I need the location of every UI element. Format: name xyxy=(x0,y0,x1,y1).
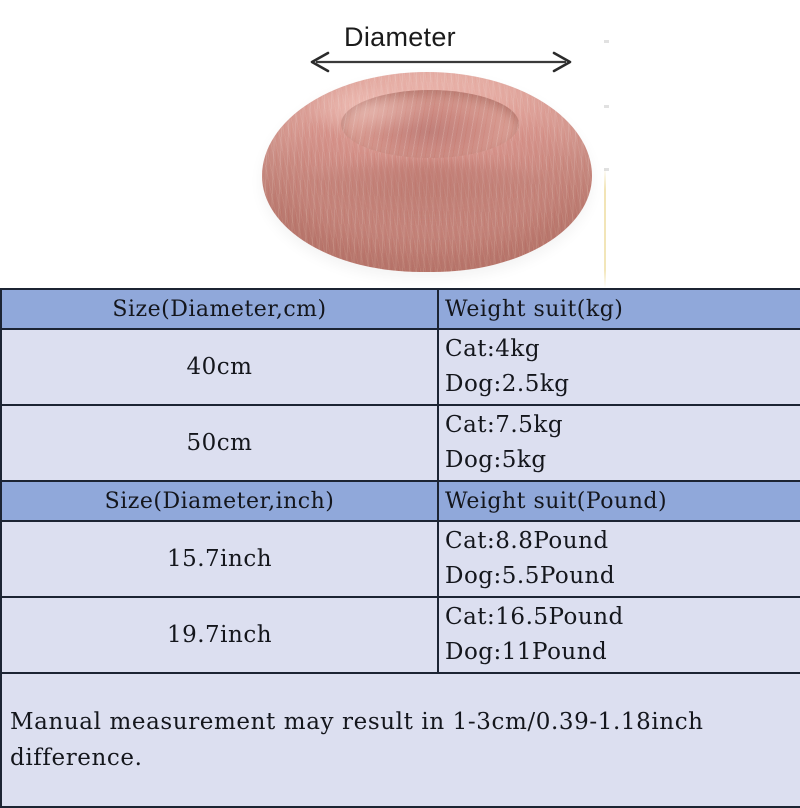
table-row: 40cm Cat:4kg Dog:2.5kg xyxy=(1,329,800,405)
size-chart-table: Size(Diameter,cm) Weight suit(kg) 40cm C… xyxy=(0,288,800,808)
table-footer-row: Manual measurement may result in 1-3cm/0… xyxy=(1,673,800,807)
size-value-50cm: 50cm xyxy=(1,405,438,481)
dog-weight: Dog:5kg xyxy=(445,443,800,478)
dog-weight: Dog:5.5Pound xyxy=(445,559,800,594)
table-header-row-inch: Size(Diameter,inch) Weight suit(Pound) xyxy=(1,481,800,521)
header-size-inch: Size(Diameter,inch) xyxy=(1,481,438,521)
header-weight-pound: Weight suit(Pound) xyxy=(438,481,800,521)
weight-cell-50cm: Cat:7.5kg Dog:5kg xyxy=(438,405,800,481)
manual-measurement-note: Manual measurement may result in 1-3cm/0… xyxy=(1,673,800,807)
header-weight-kg: Weight suit(kg) xyxy=(438,289,800,329)
cat-weight: Cat:4kg xyxy=(445,332,800,367)
cat-weight: Cat:16.5Pound xyxy=(445,600,800,635)
table-row: 50cm Cat:7.5kg Dog:5kg xyxy=(1,405,800,481)
size-value-19-7inch: 19.7inch xyxy=(1,597,438,673)
dog-weight: Dog:11Pound xyxy=(445,635,800,670)
pet-bed-highlight xyxy=(302,84,434,136)
weight-cell-15-7inch: Cat:8.8Pound Dog:5.5Pound xyxy=(438,521,800,597)
table-row: 19.7inch Cat:16.5Pound Dog:11Pound xyxy=(1,597,800,673)
size-value-40cm: 40cm xyxy=(1,329,438,405)
table-row: 15.7inch Cat:8.8Pound Dog:5.5Pound xyxy=(1,521,800,597)
weight-cell-19-7inch: Cat:16.5Pound Dog:11Pound xyxy=(438,597,800,673)
cat-weight: Cat:7.5kg xyxy=(445,408,800,443)
weight-cell-40cm: Cat:4kg Dog:2.5kg xyxy=(438,329,800,405)
header-size-cm: Size(Diameter,cm) xyxy=(1,289,438,329)
scan-artifact-mark xyxy=(604,40,609,43)
pet-bed-rim-shadow xyxy=(282,160,572,240)
scan-artifact-mark xyxy=(604,105,609,108)
scan-artifact-line xyxy=(604,168,606,288)
scan-artifact-mark xyxy=(604,168,609,171)
size-chart-page: Diameter Size(Diameter,c xyxy=(0,0,800,800)
product-image-area: Diameter xyxy=(0,0,800,288)
pet-bed-product-image xyxy=(262,72,592,272)
size-value-15-7inch: 15.7inch xyxy=(1,521,438,597)
table-header-row-cm: Size(Diameter,cm) Weight suit(kg) xyxy=(1,289,800,329)
cat-weight: Cat:8.8Pound xyxy=(445,524,800,559)
dog-weight: Dog:2.5kg xyxy=(445,367,800,402)
